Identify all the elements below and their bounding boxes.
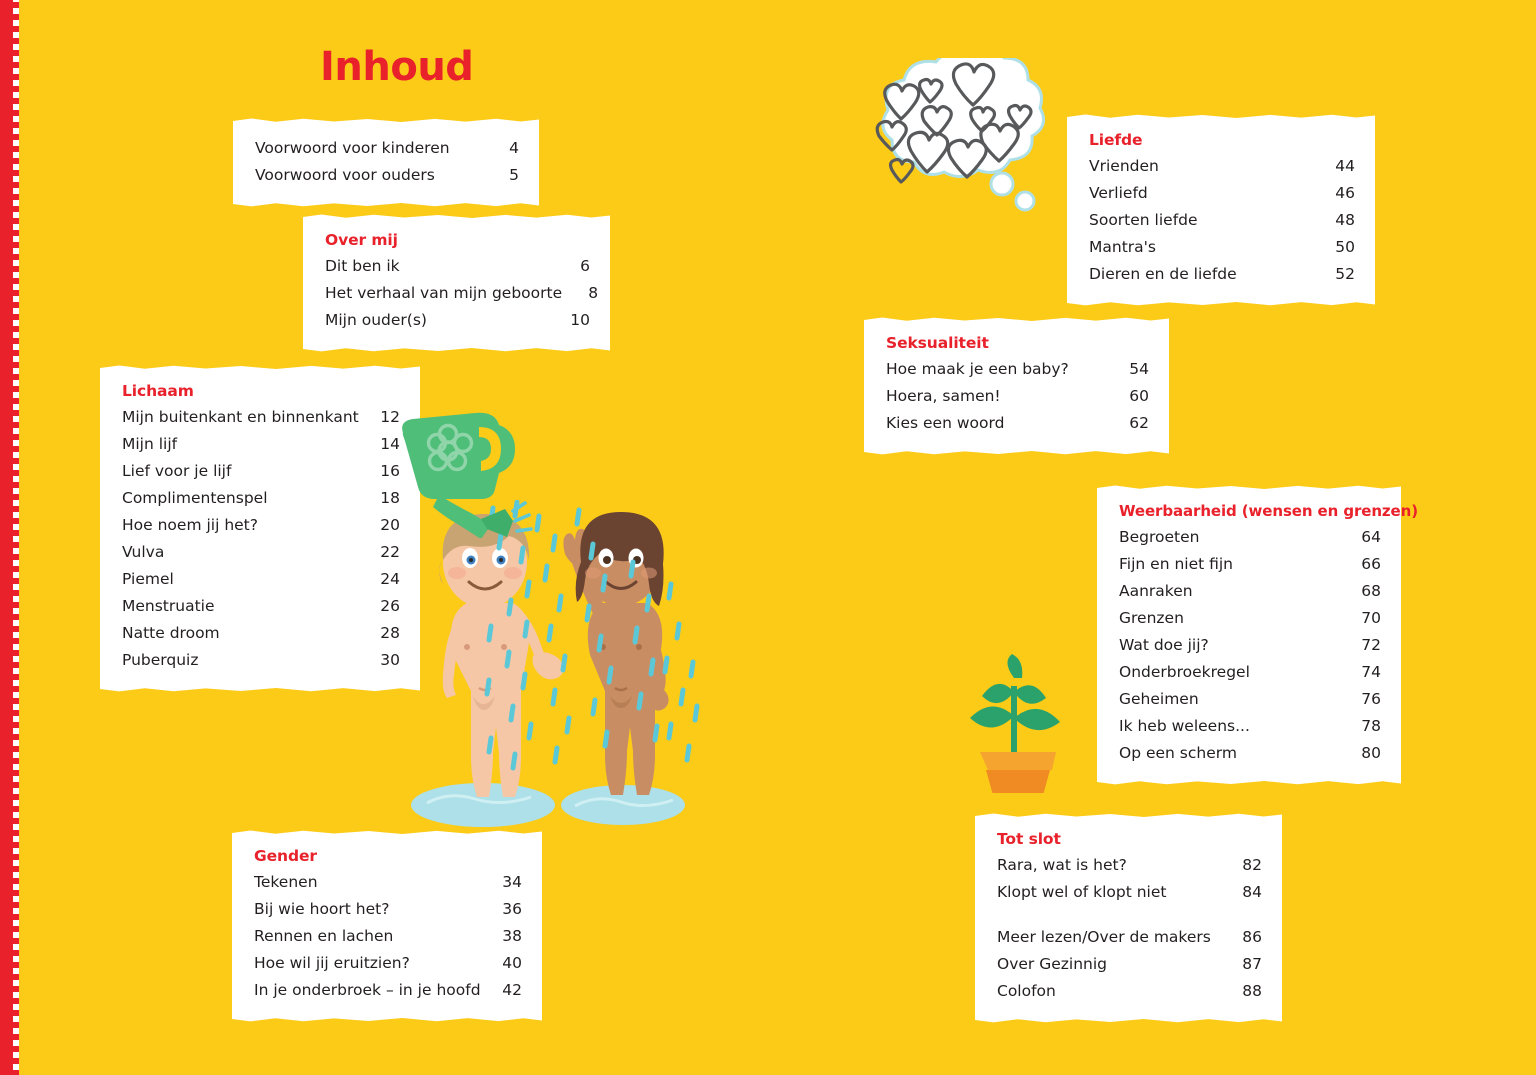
toc-entry-label: Complimentenspel [122,485,268,512]
toc-entry-label: Kies een woord [886,410,1004,437]
toc-entry[interactable]: Soorten liefde48 [1089,207,1355,234]
spine-perforation-dots [13,0,19,1075]
toc-entry-page: 78 [1353,713,1381,740]
toc-entry-label: Bij wie hoort het? [254,896,389,923]
toc-entry-label: Rara, wat is het? [997,852,1127,879]
toc-entry[interactable]: Vrienden44 [1089,153,1355,180]
toc-entry[interactable]: Over Gezinnig87 [997,951,1262,978]
toc-entry-label: Klopt wel of klopt niet [997,879,1166,906]
toc-entry-label: Grenzen [1119,605,1184,632]
toc-entry[interactable]: Hoe maak je een baby?54 [886,356,1149,383]
toc-entry-label: Onderbroekregel [1119,659,1250,686]
toc-box-lichaam: Lichaam Mijn buitenkant en binnenkant12 … [100,369,420,688]
toc-entry-page: 68 [1353,578,1381,605]
toc-entry-page: 84 [1234,879,1262,906]
toc-box-weerbaarheid: Weerbaarheid (wensen en grenzen) Begroet… [1097,489,1401,781]
toc-entry[interactable]: Mantra's50 [1089,234,1355,261]
toc-entry[interactable]: Hoera, samen!60 [886,383,1149,410]
toc-entry-page: 88 [1234,978,1262,1005]
toc-entry-page: 40 [492,950,522,977]
toc-box-extra: Meer lezen/Over de makers86 Over Gezinni… [975,907,1282,1019]
toc-entry[interactable]: Mijn buitenkant en binnenkant12 [122,404,400,431]
toc-entry[interactable]: Verliefd46 [1089,180,1355,207]
toc-section-heading: Lichaam [122,382,400,400]
toc-entry-page: 54 [1121,356,1149,383]
toc-entry-page: 52 [1327,261,1355,288]
toc-entry-label: Begroeten [1119,524,1200,551]
page-root: Inhoud [0,0,1536,1075]
toc-entry[interactable]: Hoe wil jij eruitzien?40 [254,950,522,977]
toc-entry-label: Rennen en lachen [254,923,393,950]
toc-entry-page: 62 [1121,410,1149,437]
toc-entry-label: Op een scherm [1119,740,1237,767]
toc-entry-label: Voorwoord voor ouders [255,162,435,189]
toc-entry[interactable]: Voorwoord voor kinderen 4 [255,135,519,162]
toc-entry[interactable]: Begroeten64 [1119,524,1381,551]
toc-entry-label: Meer lezen/Over de makers [997,924,1211,951]
toc-entry-page: 48 [1327,207,1355,234]
toc-entry[interactable]: Colofon88 [997,978,1262,1005]
toc-entry[interactable]: Piemel24 [122,566,400,593]
toc-entry[interactable]: Bij wie hoort het?36 [254,896,522,923]
toc-entry-page: 34 [492,869,522,896]
toc-entry-page: 80 [1353,740,1381,767]
toc-section-heading: Tot slot [997,830,1262,848]
toc-entry[interactable]: Puberquiz30 [122,647,400,674]
toc-entry-label: In je onderbroek – in je hoofd [254,977,481,1004]
toc-entry[interactable]: Onderbroekregel74 [1119,659,1381,686]
toc-entry-page: 10 [564,307,590,334]
toc-entry-page: 26 [372,593,400,620]
toc-entry-page: 4 [483,135,519,162]
toc-entry-page: 64 [1353,524,1381,551]
toc-box-voorwoord: Voorwoord voor kinderen 4 Voorwoord voor… [233,122,539,203]
toc-entry-page: 22 [372,539,400,566]
toc-entry[interactable]: Dit ben ik 6 [325,253,590,280]
toc-entry[interactable]: Klopt wel of klopt niet84 [997,879,1262,906]
toc-box-over-mij: Over mij Dit ben ik 6 Het verhaal van mi… [303,218,610,348]
toc-entry-label: Hoe maak je een baby? [886,356,1069,383]
toc-entry[interactable]: Menstruatie26 [122,593,400,620]
toc-entry-page: 74 [1353,659,1381,686]
toc-entry-page: 5 [483,162,519,189]
toc-box-liefde: Liefde Vrienden44 Verliefd46 Soorten lie… [1067,118,1375,302]
toc-entry[interactable]: Tekenen34 [254,869,522,896]
toc-section-heading: Seksualiteit [886,334,1149,352]
toc-entry-label: Soorten liefde [1089,207,1198,234]
toc-section-heading: Gender [254,847,522,865]
toc-entry-page: 60 [1121,383,1149,410]
toc-entry-label: Menstruatie [122,593,215,620]
toc-entry-page: 6 [564,253,590,280]
toc-entry-label: Voorwoord voor kinderen [255,135,450,162]
toc-entry-label: Wat doe jij? [1119,632,1209,659]
toc-entry-page: 72 [1353,632,1381,659]
toc-entry[interactable]: Dieren en de liefde52 [1089,261,1355,288]
toc-entry[interactable]: Op een scherm80 [1119,740,1381,767]
toc-entry-label: Dieren en de liefde [1089,261,1237,288]
toc-entry-page: 46 [1327,180,1355,207]
toc-entry[interactable]: Ik heb weleens...78 [1119,713,1381,740]
toc-entry-page: 42 [492,977,522,1004]
toc-entry-label: Hoe noem jij het? [122,512,258,539]
thought-bubble-hearts-icon [852,58,1052,218]
toc-entry-label: Geheimen [1119,686,1199,713]
toc-entry-label: Lief voor je lijf [122,458,231,485]
toc-entry-page: 38 [492,923,522,950]
toc-entry[interactable]: Complimentenspel18 [122,485,400,512]
toc-entry[interactable]: Grenzen70 [1119,605,1381,632]
toc-entry-label: Dit ben ik [325,253,400,280]
toc-entry[interactable]: Kies een woord62 [886,410,1149,437]
toc-entry-label: Puberquiz [122,647,198,674]
toc-entry-label: Het verhaal van mijn geboorte [325,280,562,307]
toc-entry-label: Tekenen [254,869,318,896]
toc-entry-page: 86 [1234,924,1262,951]
toc-box-gender: Gender Tekenen34 Bij wie hoort het?36 Re… [232,834,542,1018]
toc-entry-page: 70 [1353,605,1381,632]
potted-plant-icon [958,648,1078,793]
toc-entry-page: 8 [572,280,598,307]
toc-entry[interactable]: Aanraken68 [1119,578,1381,605]
toc-section-heading: Liefde [1089,131,1355,149]
toc-entry-label: Hoe wil jij eruitzien? [254,950,410,977]
toc-entry-page: 66 [1353,551,1381,578]
toc-entry[interactable]: Vulva22 [122,539,400,566]
toc-entry-page: 76 [1353,686,1381,713]
toc-entry[interactable]: Rennen en lachen38 [254,923,522,950]
toc-entry[interactable]: Lief voor je lijf16 [122,458,400,485]
toc-entry-page: 36 [492,896,522,923]
watering-can-icon [393,403,533,538]
toc-entry[interactable]: Mijn ouder(s) 10 [325,307,590,334]
toc-entry-label: Vrienden [1089,153,1159,180]
toc-entry[interactable]: Fijn en niet fijn66 [1119,551,1381,578]
toc-entry[interactable]: Meer lezen/Over de makers86 [997,924,1262,951]
toc-entry-label: Over Gezinnig [997,951,1107,978]
toc-entry[interactable]: Natte droom28 [122,620,400,647]
toc-entry-page: 82 [1234,852,1262,879]
toc-entry-label: Aanraken [1119,578,1193,605]
toc-entry-page: 87 [1234,951,1262,978]
toc-entry[interactable]: Rara, wat is het?82 [997,852,1262,879]
toc-entry-label: Ik heb weleens... [1119,713,1250,740]
toc-entry-label: Piemel [122,566,174,593]
toc-section-heading: Weerbaarheid (wensen en grenzen) [1119,502,1381,520]
page-title: Inhoud [320,44,473,90]
toc-entry-page: 28 [372,620,400,647]
toc-entry-page: 24 [372,566,400,593]
toc-entry-label: Colofon [997,978,1056,1005]
toc-entry[interactable]: Mijn lijf14 [122,431,400,458]
toc-entry-label: Mijn ouder(s) [325,307,427,334]
toc-entry[interactable]: Het verhaal van mijn geboorte 8 [325,280,590,307]
toc-entry[interactable]: Geheimen76 [1119,686,1381,713]
toc-entry-label: Hoera, samen! [886,383,1001,410]
toc-entry-label: Natte droom [122,620,220,647]
two-children-showering-illustration [405,500,725,845]
toc-box-seksualiteit: Seksualiteit Hoe maak je een baby?54 Hoe… [864,321,1169,451]
toc-entry-page: 50 [1327,234,1355,261]
toc-entry[interactable]: Hoe noem jij het?20 [122,512,400,539]
toc-entry-page: 30 [372,647,400,674]
toc-entry-page: 44 [1327,153,1355,180]
toc-entry-label: Mantra's [1089,234,1156,261]
toc-entry[interactable]: Voorwoord voor ouders 5 [255,162,519,189]
toc-entry[interactable]: Wat doe jij?72 [1119,632,1381,659]
toc-entry-label: Mijn lijf [122,431,177,458]
toc-entry-label: Vulva [122,539,164,566]
toc-entry[interactable]: In je onderbroek – in je hoofd42 [254,977,522,1004]
toc-section-heading: Over mij [325,231,590,249]
toc-entry-label: Verliefd [1089,180,1148,207]
toc-entry-label: Fijn en niet fijn [1119,551,1233,578]
toc-entry-label: Mijn buitenkant en binnenkant [122,404,359,431]
